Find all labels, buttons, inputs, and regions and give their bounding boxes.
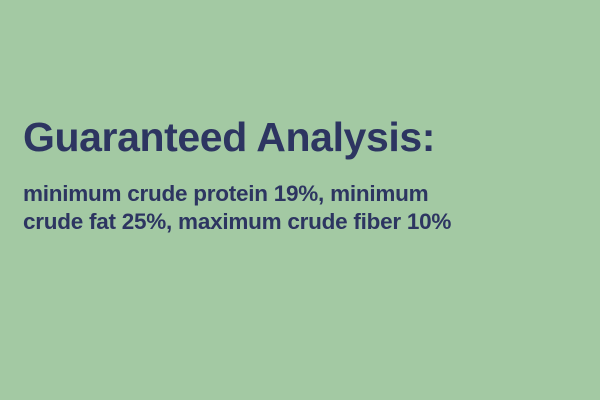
page-title: Guaranteed Analysis: — [23, 116, 588, 160]
body-line-2: crude fat 25%, maximum crude fiber 10% — [23, 208, 588, 236]
text-block: Guaranteed Analysis: minimum crude prote… — [23, 116, 588, 236]
guaranteed-analysis-body: minimum crude protein 19%, minimum crude… — [23, 180, 588, 236]
guaranteed-analysis-card: Guaranteed Analysis: minimum crude prote… — [0, 0, 600, 400]
body-line-1: minimum crude protein 19%, minimum — [23, 180, 588, 208]
